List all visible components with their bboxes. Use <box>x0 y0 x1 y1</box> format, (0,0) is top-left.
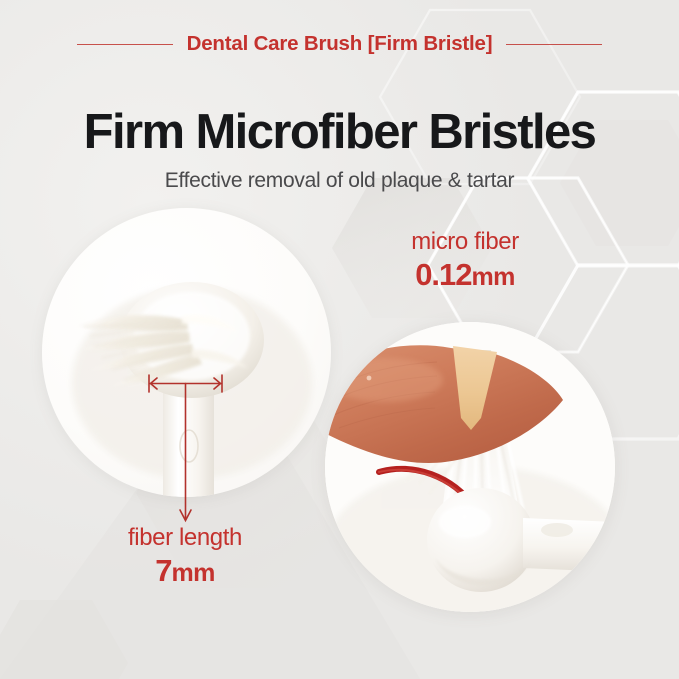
fiber-length-value: 7mm <box>50 552 320 589</box>
micro-fiber-number: 0.12 <box>415 257 471 292</box>
micro-fiber-annotation: micro fiber 0.12mm <box>330 228 600 293</box>
marketing-banner: Dental Care Brush [Firm Bristle] Firm Mi… <box>0 0 679 679</box>
fingertip-press-photo <box>325 322 615 612</box>
micro-fiber-value: 0.12mm <box>330 256 600 293</box>
fiber-length-label: fiber length <box>50 524 320 552</box>
fiber-length-number: 7 <box>155 553 171 588</box>
eyebrow-rule-right <box>506 44 602 45</box>
eyebrow-rule-left <box>77 44 173 45</box>
micro-fiber-label: micro fiber <box>330 228 600 256</box>
fiber-length-annotation: fiber length 7mm <box>50 524 320 589</box>
arrowhead-down <box>180 510 191 521</box>
page-subtitle: Effective removal of old plaque & tartar <box>0 169 679 193</box>
micro-fiber-unit: mm <box>472 263 515 291</box>
page-title: Firm Microfiber Bristles <box>0 107 679 159</box>
eyebrow-title: Dental Care Brush [Firm Bristle] <box>187 32 493 56</box>
eyebrow-row: Dental Care Brush [Firm Bristle] <box>0 32 679 56</box>
fiber-length-unit: mm <box>171 559 214 587</box>
fingertip-illustration <box>325 322 615 612</box>
brush-head-illustration <box>42 208 331 497</box>
brush-head-photo <box>42 208 331 497</box>
